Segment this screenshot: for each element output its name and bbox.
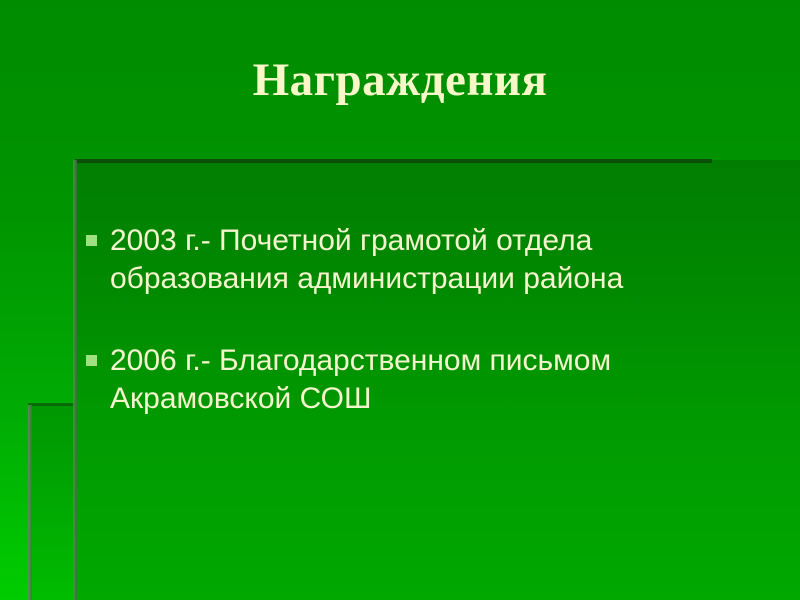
content-panel-left-bevel — [73, 160, 77, 600]
list-item: 2006 г.- Благодарственном письмом Акрамо… — [86, 342, 766, 418]
list-item: 2003 г.- Почетной грамотой отдела образо… — [86, 222, 766, 298]
lower-panel-left-bevel — [28, 405, 32, 600]
lower-decorative-panel — [28, 405, 800, 600]
square-bullet-icon — [86, 235, 97, 246]
bullet-list: 2003 г.- Почетной грамотой отдела образо… — [86, 222, 766, 418]
list-item-text: 2006 г.- Благодарственном письмом Акрамо… — [110, 342, 766, 418]
presentation-slide: Награждения 2003 г.- Почетной грамотой о… — [0, 0, 800, 600]
content-panel-top-divider — [75, 159, 712, 163]
square-bullet-icon — [86, 355, 97, 366]
slide-title: Награждения — [0, 56, 800, 105]
list-item-text: 2003 г.- Почетной грамотой отдела образо… — [110, 222, 766, 298]
